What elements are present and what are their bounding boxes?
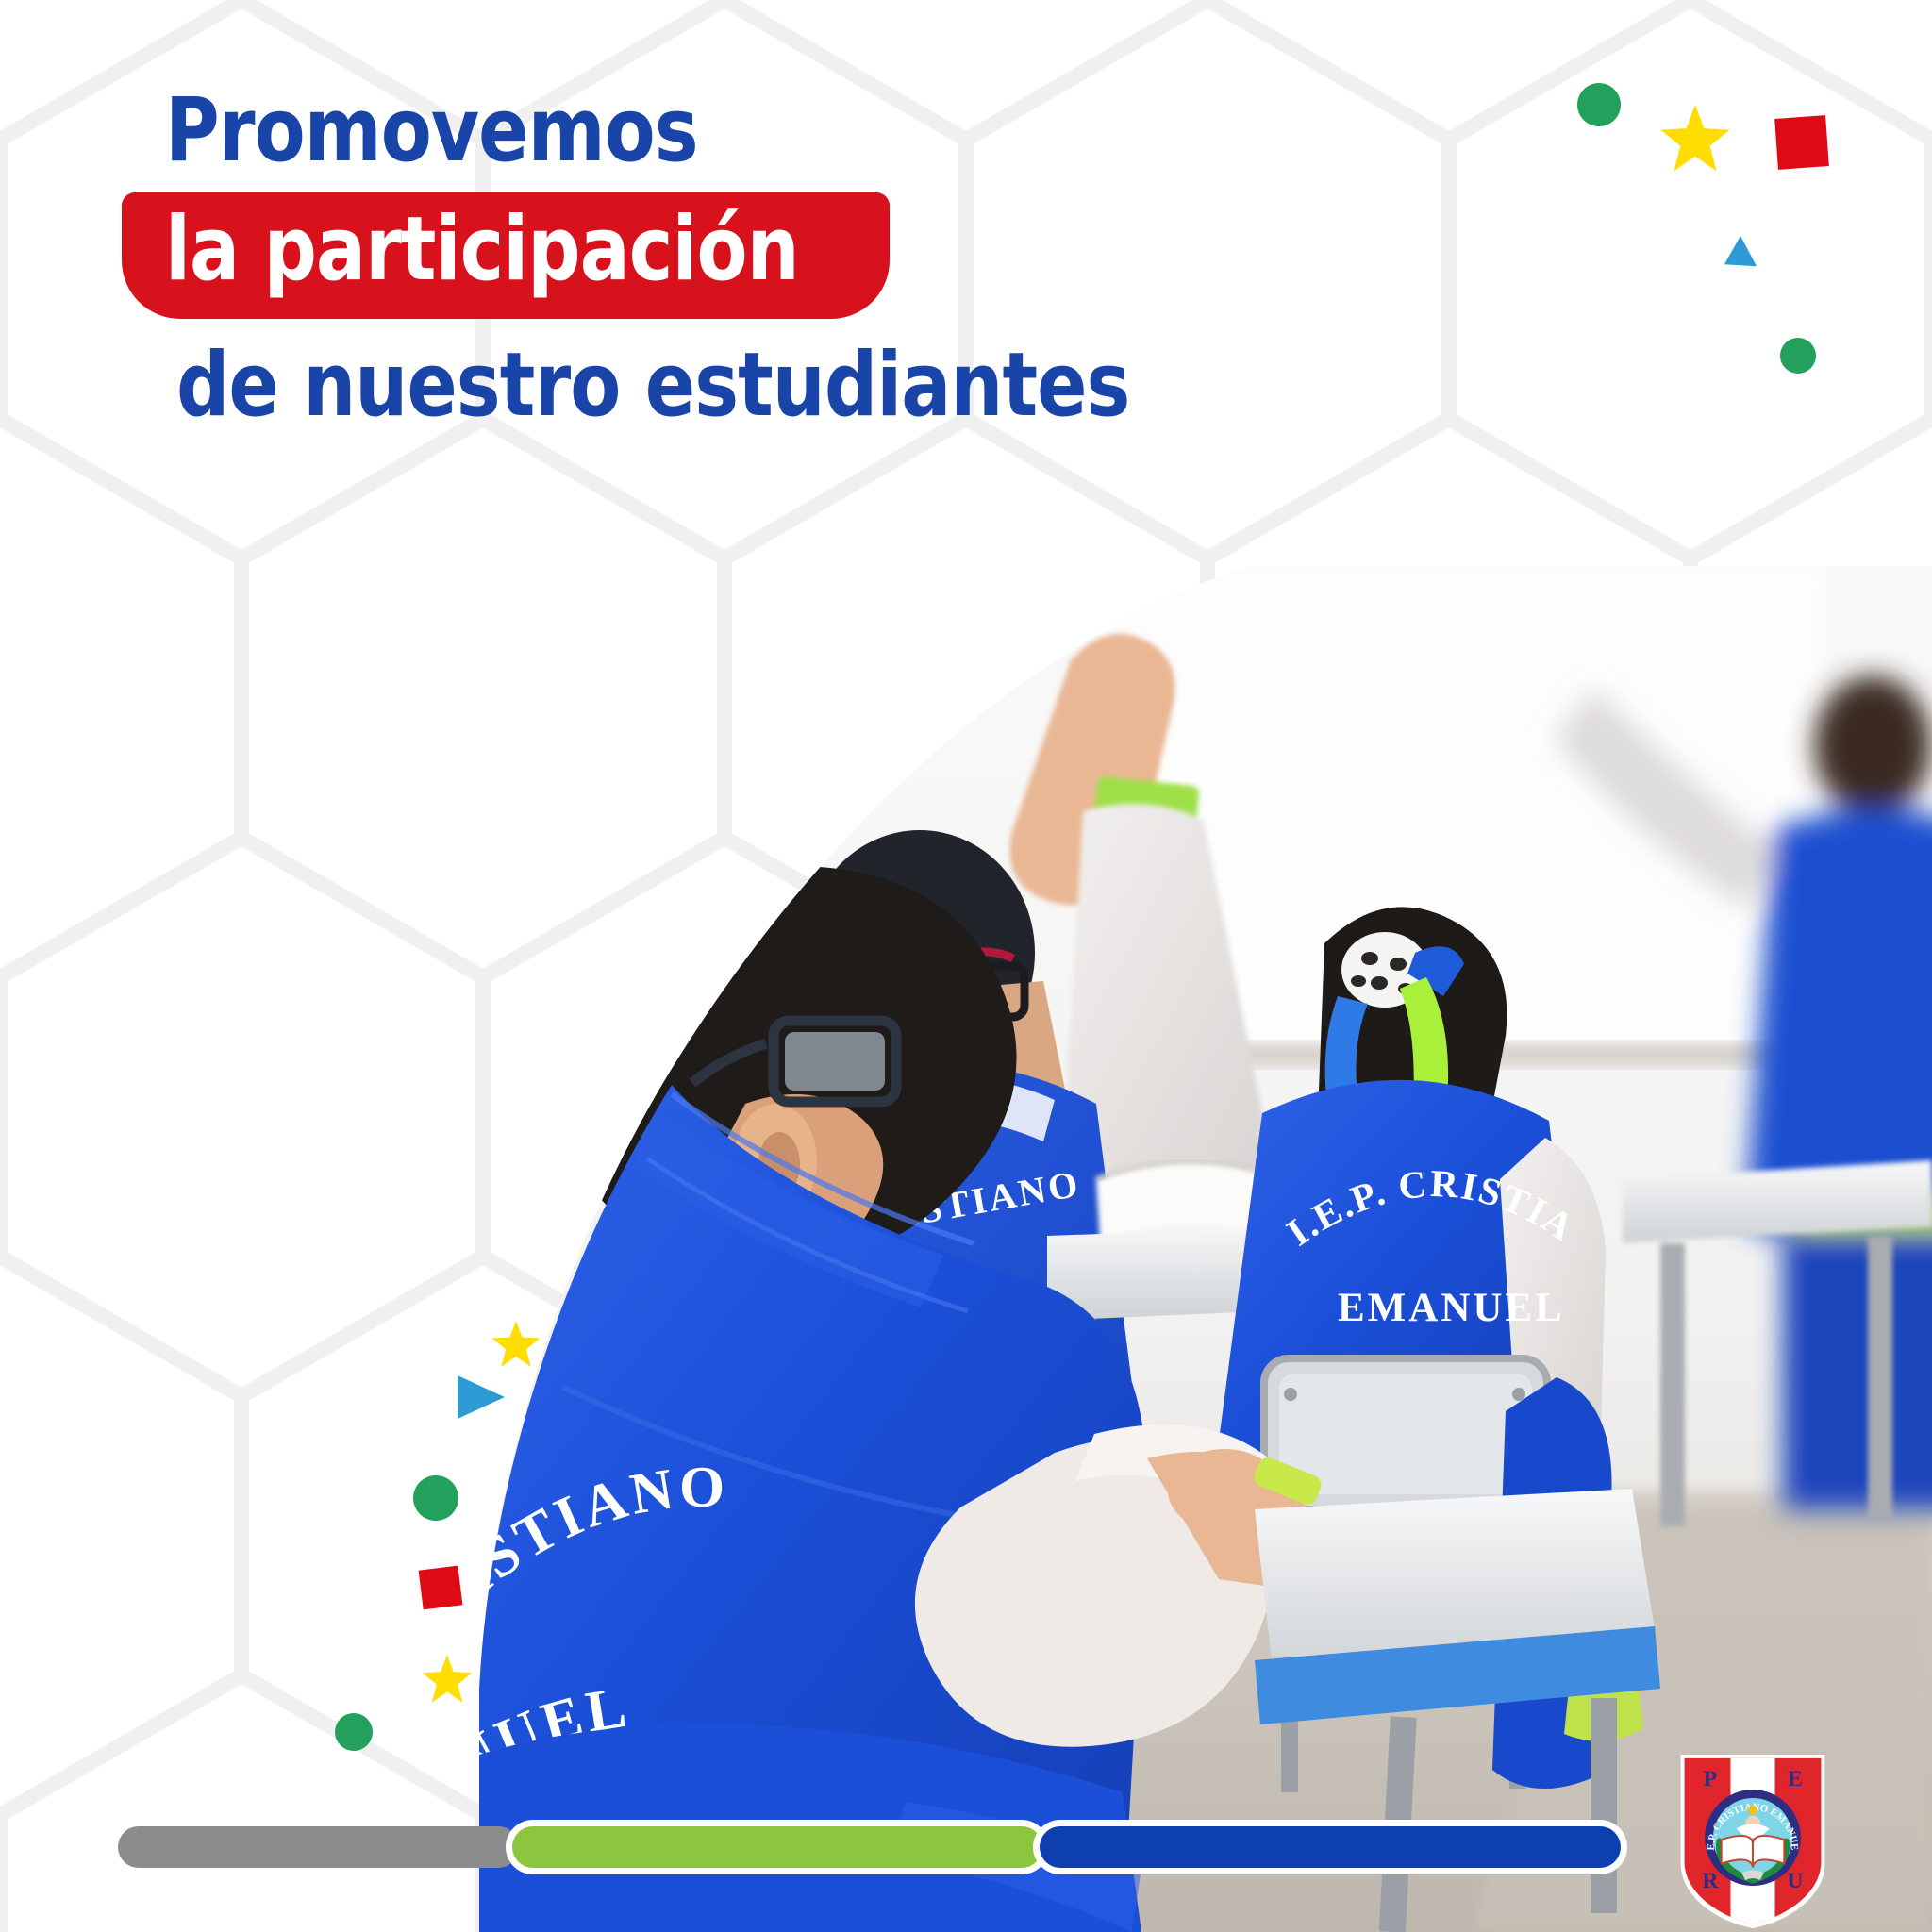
headline-block: Promovemos la participación de nuestro e…	[0, 0, 1226, 430]
crest-letter-r: R	[1702, 1869, 1719, 1893]
headline-line-1: Promovemos	[165, 87, 1152, 175]
star-yellow-bottom-1	[491, 1319, 541, 1370]
circle-green-top	[1577, 83, 1621, 126]
crest-letter-e: E	[1788, 1767, 1803, 1791]
star-yellow-bottom-2	[421, 1653, 474, 1706]
star-yellow-top	[1658, 102, 1732, 175]
headline-line-2: la participación	[165, 206, 799, 294]
crest-letter-u: U	[1788, 1869, 1804, 1893]
headline-red-band: la participación	[122, 192, 890, 319]
square-red-bottom	[419, 1566, 463, 1610]
square-red-top	[1774, 115, 1829, 170]
circle-green-top-2	[1780, 338, 1816, 374]
circle-green-bottom-1	[413, 1475, 458, 1521]
poster-canvas: ISTIANO NUEL	[0, 0, 1932, 1932]
iep-cristiano-emanuel-crest-logo: P E R U I.E.P. CRISTIANO EMANUEL	[1677, 1753, 1828, 1928]
triangle-blue-bottom	[456, 1374, 507, 1421]
svg-text:EMANUEL: EMANUEL	[1338, 1286, 1565, 1330]
triangle-blue-top	[1723, 234, 1758, 270]
circle-green-bottom-2	[335, 1713, 373, 1751]
headline-line-3: de nuestro estudiantes	[176, 341, 1153, 430]
crest-letter-p: P	[1704, 1767, 1717, 1791]
